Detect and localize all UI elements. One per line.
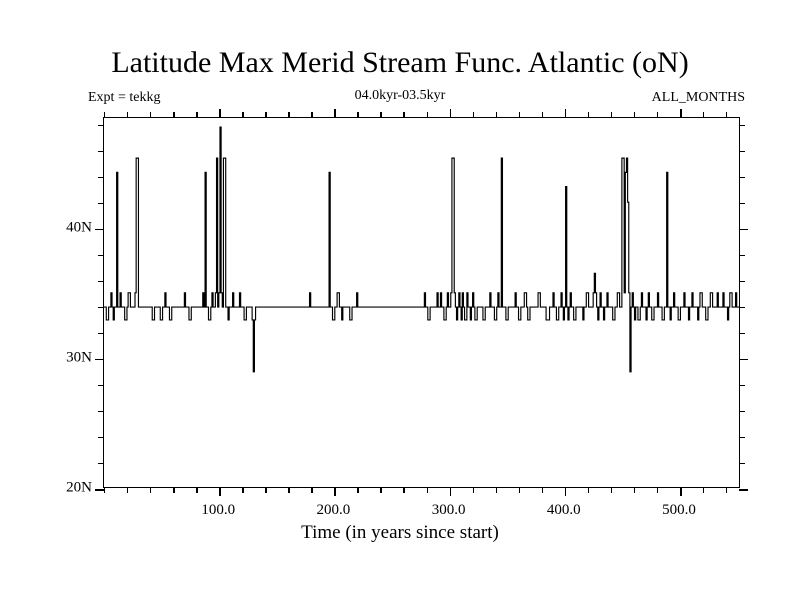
x-axis-title: Time (in years since start) — [0, 522, 800, 544]
x-tick-major — [450, 487, 452, 496]
x-tick-minor-top — [519, 112, 520, 118]
x-tick-major-top — [334, 109, 336, 118]
x-tick-minor-top — [173, 112, 174, 118]
x-tick-minor — [427, 487, 428, 493]
y-axis-label: 40N — [22, 219, 92, 236]
x-tick-minor — [288, 487, 289, 493]
y-tick-minor-right — [739, 333, 745, 334]
x-tick-minor — [127, 487, 128, 493]
x-tick-major — [565, 487, 567, 496]
x-tick-minor — [311, 487, 312, 493]
y-tick-major-right — [739, 489, 748, 491]
y-tick-minor — [98, 203, 104, 204]
y-tick-major — [95, 359, 104, 361]
x-tick-minor — [519, 487, 520, 493]
x-tick-minor — [634, 487, 635, 493]
x-tick-minor — [703, 487, 704, 493]
x-tick-minor-top — [657, 112, 658, 118]
y-tick-minor-right — [739, 385, 745, 386]
x-tick-minor — [173, 487, 174, 493]
x-tick-minor-top — [265, 112, 266, 118]
y-tick-minor — [98, 463, 104, 464]
x-tick-minor-top — [242, 112, 243, 118]
x-tick-minor-top — [726, 112, 727, 118]
x-tick-minor — [242, 487, 243, 493]
x-tick-minor-top — [380, 112, 381, 118]
y-tick-minor — [98, 411, 104, 412]
y-tick-minor-right — [739, 151, 745, 152]
x-tick-major-top — [565, 109, 567, 118]
y-tick-minor — [98, 307, 104, 308]
x-tick-minor — [104, 487, 105, 493]
x-tick-minor — [542, 487, 543, 493]
x-tick-minor — [150, 487, 151, 493]
x-tick-minor-top — [357, 112, 358, 118]
x-tick-major-top — [219, 109, 221, 118]
x-tick-minor — [726, 487, 727, 493]
x-tick-minor-top — [127, 112, 128, 118]
y-tick-minor-right — [739, 255, 745, 256]
y-tick-minor-right — [739, 411, 745, 412]
x-axis-label: 300.0 — [404, 502, 494, 519]
y-tick-minor — [98, 385, 104, 386]
y-tick-major — [95, 489, 104, 491]
y-tick-major-right — [739, 359, 748, 361]
y-tick-minor-right — [739, 125, 745, 126]
x-axis-label: 100.0 — [173, 502, 263, 519]
y-tick-minor-right — [739, 203, 745, 204]
x-tick-minor — [496, 487, 497, 493]
x-tick-minor-top — [403, 112, 404, 118]
x-tick-minor-top — [150, 112, 151, 118]
plot-area — [103, 117, 740, 488]
y-tick-major — [95, 229, 104, 231]
x-tick-minor — [380, 487, 381, 493]
x-tick-minor — [265, 487, 266, 493]
figure-canvas: Latitude Max Merid Stream Func. Atlantic… — [0, 0, 800, 600]
y-axis-label: 30N — [22, 349, 92, 366]
x-tick-minor-top — [104, 112, 105, 118]
y-tick-minor — [98, 125, 104, 126]
x-tick-minor — [611, 487, 612, 493]
y-axis-label: 20N — [22, 480, 92, 497]
x-tick-minor-top — [473, 112, 474, 118]
x-tick-major — [219, 487, 221, 496]
x-tick-minor-top — [427, 112, 428, 118]
x-tick-major-top — [450, 109, 452, 118]
data-series-line — [104, 118, 739, 487]
x-tick-minor-top — [703, 112, 704, 118]
y-tick-minor — [98, 255, 104, 256]
x-tick-major — [334, 487, 336, 496]
y-tick-minor-right — [739, 437, 745, 438]
x-axis-label: 500.0 — [634, 502, 724, 519]
y-tick-minor-right — [739, 307, 745, 308]
y-tick-minor-right — [739, 177, 745, 178]
y-tick-minor — [98, 151, 104, 152]
x-tick-major-top — [680, 109, 682, 118]
x-tick-minor-top — [611, 112, 612, 118]
x-axis-label: 200.0 — [288, 502, 378, 519]
x-tick-minor-top — [588, 112, 589, 118]
months-label: ALL_MONTHS — [652, 90, 745, 106]
y-tick-minor — [98, 437, 104, 438]
y-tick-minor-right — [739, 463, 745, 464]
x-tick-minor — [357, 487, 358, 493]
y-tick-minor — [98, 333, 104, 334]
x-tick-minor — [473, 487, 474, 493]
y-tick-minor — [98, 177, 104, 178]
x-tick-minor — [657, 487, 658, 493]
x-tick-minor-top — [542, 112, 543, 118]
x-tick-minor-top — [496, 112, 497, 118]
x-tick-minor-top — [634, 112, 635, 118]
x-tick-minor — [196, 487, 197, 493]
x-tick-minor — [403, 487, 404, 493]
x-tick-minor-top — [196, 112, 197, 118]
chart-title: Latitude Max Merid Stream Func. Atlantic… — [0, 46, 800, 80]
y-tick-minor — [98, 281, 104, 282]
x-tick-minor-top — [311, 112, 312, 118]
x-tick-minor — [588, 487, 589, 493]
y-tick-major-right — [739, 229, 748, 231]
y-tick-minor-right — [739, 281, 745, 282]
x-tick-major — [680, 487, 682, 496]
x-tick-minor-top — [288, 112, 289, 118]
x-axis-label: 400.0 — [519, 502, 609, 519]
